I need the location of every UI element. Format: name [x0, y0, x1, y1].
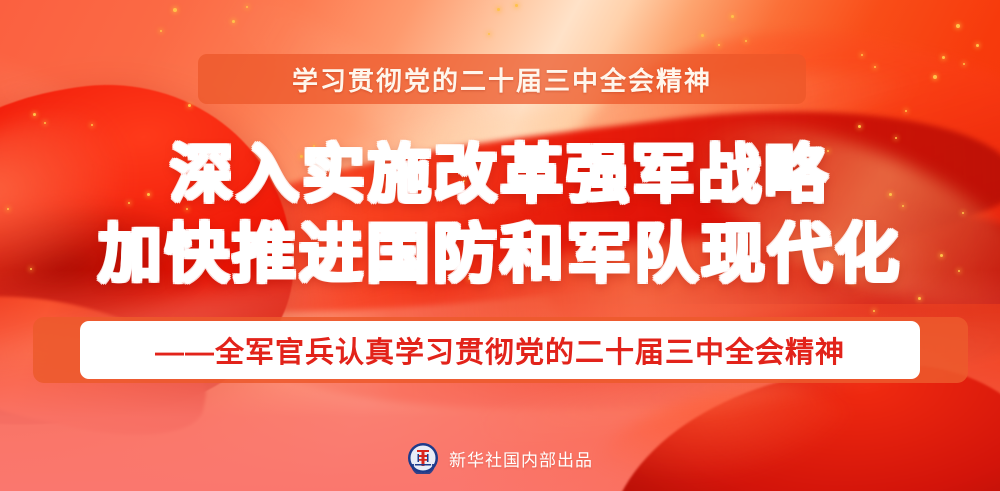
sparkle-particle — [246, 6, 248, 8]
main-title-line-2: 加快推进国防和军队现代化 — [0, 215, 1000, 294]
sparkle-particle — [515, 4, 518, 7]
xinhua-news-agency-logo-icon — [407, 442, 439, 474]
sparkle-particle — [160, 30, 162, 32]
sparkle-particle — [232, 20, 235, 23]
poster-canvas: 学习贯彻党的二十届三中全会精神 深入实施改革强军战略 加快推进国防和军队现代化 … — [0, 0, 1000, 491]
main-title: 深入实施改革强军战略 加快推进国防和军队现代化 — [0, 136, 1000, 294]
sparkle-particle — [173, 8, 177, 12]
sparkle-particle — [956, 24, 960, 28]
footer: 新华社国内部出品 — [0, 442, 1000, 474]
sparkle-particle — [497, 8, 500, 11]
subtitle-text: ——全军官兵认真学习贯彻党的二十届三中全会精神 — [155, 329, 845, 371]
footer-text: 新华社国内部出品 — [449, 446, 593, 471]
sparkle-particle — [731, 15, 734, 18]
sparkle-particle — [488, 33, 490, 35]
subtitle-bar-inner: ——全军官兵认真学习贯彻党的二十届三中全会精神 — [80, 321, 920, 379]
top-banner-text: 学习贯彻党的二十届三中全会精神 — [292, 61, 712, 98]
sparkle-particle — [701, 34, 704, 37]
top-banner: 学习贯彻党的二十届三中全会精神 — [198, 54, 806, 104]
sparkle-particle — [976, 44, 979, 47]
main-title-line-1: 深入实施改革强军战略 — [0, 136, 1000, 215]
